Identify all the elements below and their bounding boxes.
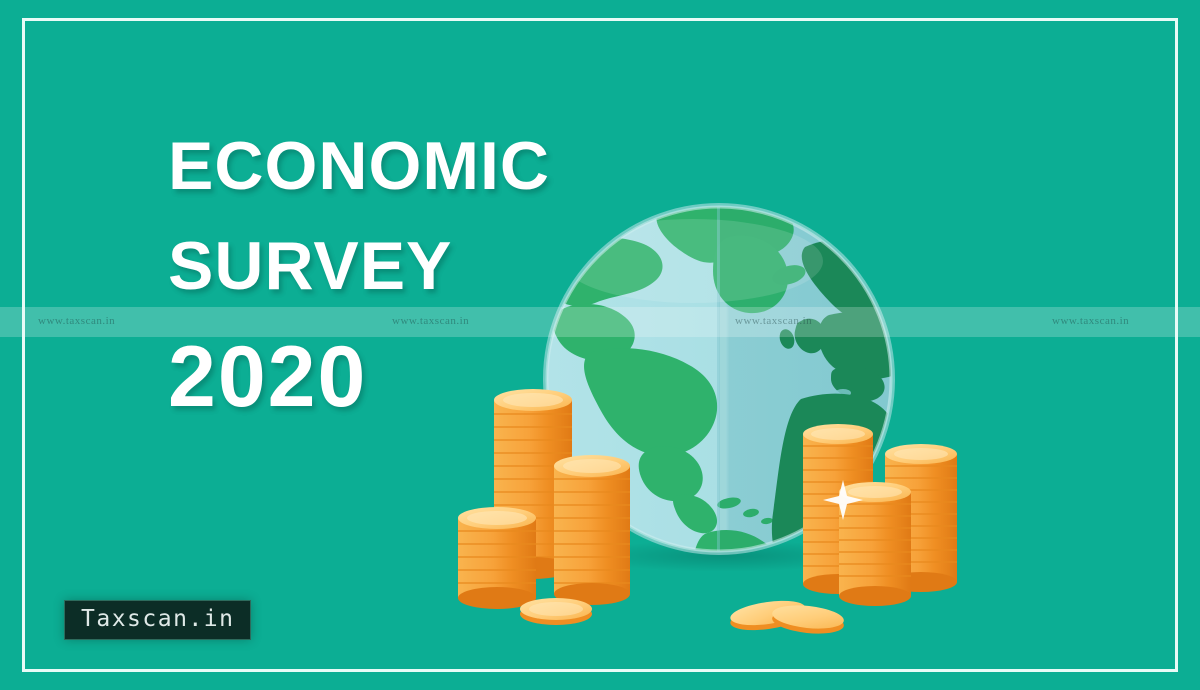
- loose-coins-svg: [718, 588, 853, 640]
- taxscan-logo-text: Taxscan.in: [81, 608, 234, 631]
- watermark-text: www.taxscan.in: [1052, 315, 1129, 327]
- loose-coins-bottom: [718, 588, 853, 640]
- title-line-year: 2020: [168, 334, 638, 420]
- economic-survey-poster: ECONOMIC SURVEY 2020 www.taxscan.in www.…: [0, 0, 1200, 690]
- taxscan-logo[interactable]: Taxscan.in: [64, 600, 251, 640]
- loose-coin-front: [771, 602, 845, 636]
- title-line-economic: ECONOMIC: [168, 132, 638, 200]
- watermark-text: www.taxscan.in: [38, 315, 115, 327]
- coin-stack-middle: [554, 455, 630, 605]
- loose-coin: [520, 598, 592, 625]
- poster-title: ECONOMIC SURVEY 2020: [168, 132, 638, 420]
- title-line-survey: SURVEY: [168, 232, 638, 300]
- coin-stack-short: [458, 507, 536, 609]
